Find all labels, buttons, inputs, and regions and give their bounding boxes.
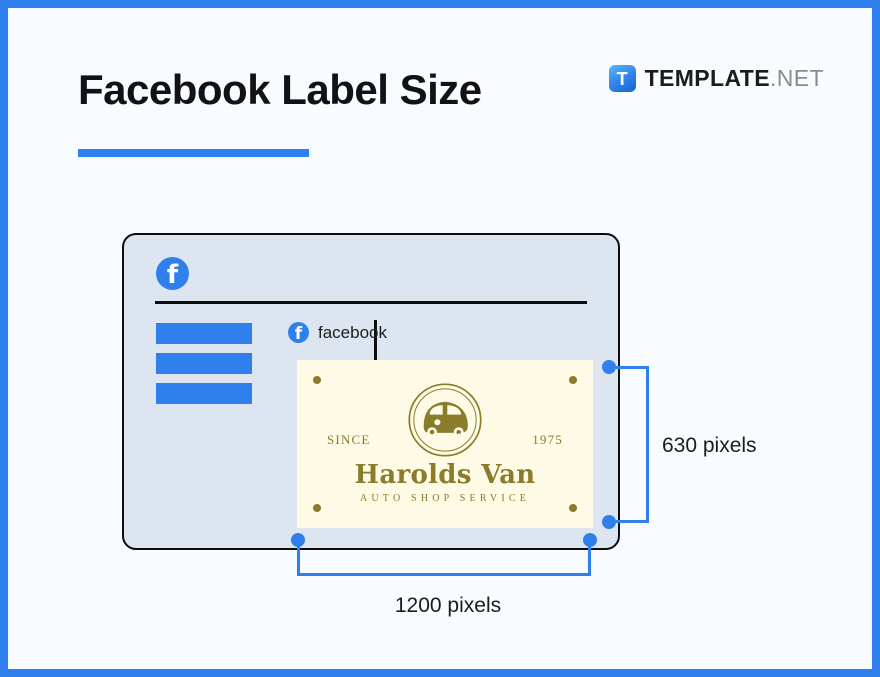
label-year-text: 1975 <box>532 432 563 448</box>
brand-logo: T TEMPLATE.NET <box>609 65 824 92</box>
height-measure-label: 630 pixels <box>662 434 757 458</box>
svg-text:Classic: Classic <box>423 431 468 445</box>
sidebar-placeholder-list <box>156 323 252 404</box>
label-corner-pin-icon <box>313 504 321 512</box>
width-measure-bracket <box>297 539 591 576</box>
classic-van-emblem-icon: Classic CLUB <box>407 382 483 458</box>
feed-author-name: facebook <box>318 323 387 343</box>
measure-anchor-dot <box>602 360 616 374</box>
facebook-icon <box>156 257 189 290</box>
label-corner-pin-icon <box>313 376 321 384</box>
brand-name-tld: .NET <box>770 65 824 91</box>
feed-post-header: facebook <box>288 322 387 343</box>
sidebar-placeholder-bar <box>156 383 252 404</box>
page-canvas: Facebook Label Size T TEMPLATE.NET faceb… <box>8 8 872 669</box>
template-net-mark-icon: T <box>609 65 636 92</box>
height-measure-bracket <box>616 366 649 523</box>
card-header-divider <box>155 301 587 304</box>
brand-name-main: TEMPLATE <box>645 65 770 91</box>
sidebar-placeholder-bar <box>156 323 252 344</box>
label-brand-name: Harolds Van <box>297 460 593 490</box>
page-title: Facebook Label Size <box>78 66 482 114</box>
label-since-text: SINCE <box>327 432 371 448</box>
svg-text:CLUB: CLUB <box>439 445 451 449</box>
label-tagline: AUTO SHOP SERVICE <box>297 493 593 504</box>
label-corner-pin-icon <box>569 376 577 384</box>
label-corner-pin-icon <box>569 504 577 512</box>
width-measure-label: 1200 pixels <box>8 594 872 618</box>
measure-anchor-dot <box>602 515 616 529</box>
sidebar-placeholder-bar <box>156 353 252 374</box>
facebook-mock-card: facebook Classic CLUB SINCE <box>122 233 620 550</box>
van-label-artwork: Classic CLUB SINCE 1975 Harolds Van AUTO… <box>297 360 593 528</box>
brand-name: TEMPLATE.NET <box>645 65 824 92</box>
title-accent-bar <box>78 149 309 157</box>
facebook-icon <box>288 322 309 343</box>
